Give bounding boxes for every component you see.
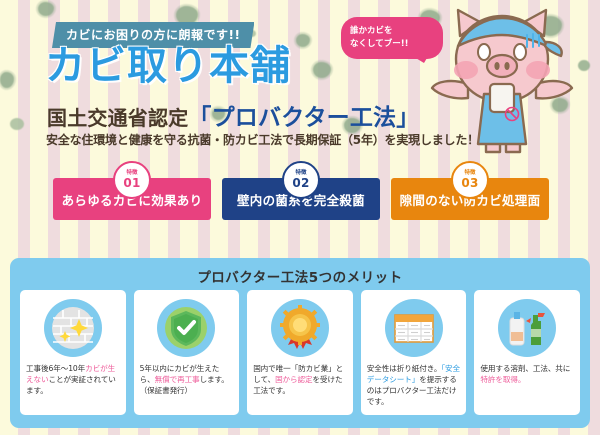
merit-card[interactable]: 5年以内にカビが生えたら、無償で再工事します。（保証書発行） bbox=[134, 290, 240, 415]
merit-card[interactable]: 安全性は折り紙付き。「安全データシート」を提示するのはプロバクター工法だけです。 bbox=[361, 290, 467, 415]
mold-spot-decoration bbox=[578, 60, 590, 71]
mold-spot-decoration bbox=[10, 118, 24, 130]
hero-subtitle-prefix: 国土交通省認定 bbox=[47, 106, 188, 130]
pig-mascot bbox=[428, 2, 576, 160]
merit-card-list: 工事後6年～10年カビが生えないことが実証されています。 5年以内にカビが生えた… bbox=[20, 290, 580, 415]
merit-card-text: 使用する溶剤、工法、共に特許を取得。 bbox=[480, 363, 574, 385]
merit-card-text: 工事後6年～10年カビが生えないことが実証されています。 bbox=[26, 363, 120, 396]
feature-number-badge-03: 特徴 03 bbox=[451, 161, 489, 199]
merit-card[interactable]: 使用する溶剤、工法、共に特許を取得。 bbox=[474, 290, 580, 415]
award-rosette-icon bbox=[271, 299, 329, 357]
feature-number: 02 bbox=[292, 177, 309, 189]
brick-wall-sparkle-icon bbox=[44, 299, 102, 357]
feature-badge-03[interactable]: 特徴 03 隙間のない防カビ処理面 bbox=[391, 178, 549, 220]
feature-number: 03 bbox=[461, 177, 478, 189]
merits-panel-title: プロバクター工法5つのメリット bbox=[10, 266, 590, 286]
feature-badge-02[interactable]: 特徴 02 壁内の菌糸を完全殺菌 bbox=[222, 178, 380, 220]
landing-page: カビにお困りの方に朗報です!! カビ取り本舗 国土交通省認定「プロバクター工法」… bbox=[0, 0, 600, 435]
speech-line-1: 誰かカビを bbox=[350, 25, 434, 38]
feature-number-badge-01: 特徴 01 bbox=[113, 161, 151, 199]
feature-badge-01[interactable]: 特徴 01 あらゆるカビに効果あり bbox=[53, 178, 211, 220]
merit-card[interactable]: 国内で唯一「防カビ業」として、国から認定を受けた工法です。 bbox=[247, 290, 353, 415]
merit-card[interactable]: 工事後6年～10年カビが生えないことが実証されています。 bbox=[20, 290, 126, 415]
feature-badge-list: 特徴 01 あらゆるカビに効果あり 特徴 02 壁内の菌糸を完全殺菌 特徴 03… bbox=[53, 178, 549, 220]
merit-card-text: 国内で唯一「防カビ業」として、国から認定を受けた工法です。 bbox=[253, 363, 347, 396]
data-sheet-icon bbox=[385, 299, 443, 357]
hero-subtitle: 国土交通省認定「プロバクター工法」 bbox=[47, 98, 420, 132]
page-title: カビ取り本舗 bbox=[45, 46, 291, 86]
cleaning-bottles-icon bbox=[498, 299, 556, 357]
merit-card-text: 安全性は折り紙付き。「安全データシート」を提示するのはプロバクター工法だけです。 bbox=[367, 363, 461, 407]
feature-number-badge-02: 特徴 02 bbox=[282, 161, 320, 199]
feature-number: 01 bbox=[123, 177, 140, 189]
merits-panel: プロバクター工法5つのメリット bbox=[10, 258, 590, 428]
speech-line-2: なくしてブー!! bbox=[350, 38, 434, 51]
merit-card-text: 5年以内にカビが生えたら、無償で再工事します。（保証書発行） bbox=[140, 363, 234, 396]
shield-check-icon bbox=[157, 299, 215, 357]
hero-tagline: 安全な住環境と健康を守る抗菌・防カビ工法で長期保証（5年）を実現しました！ bbox=[46, 131, 479, 148]
hero-subtitle-highlight: 「プロバクター工法」 bbox=[188, 105, 419, 131]
